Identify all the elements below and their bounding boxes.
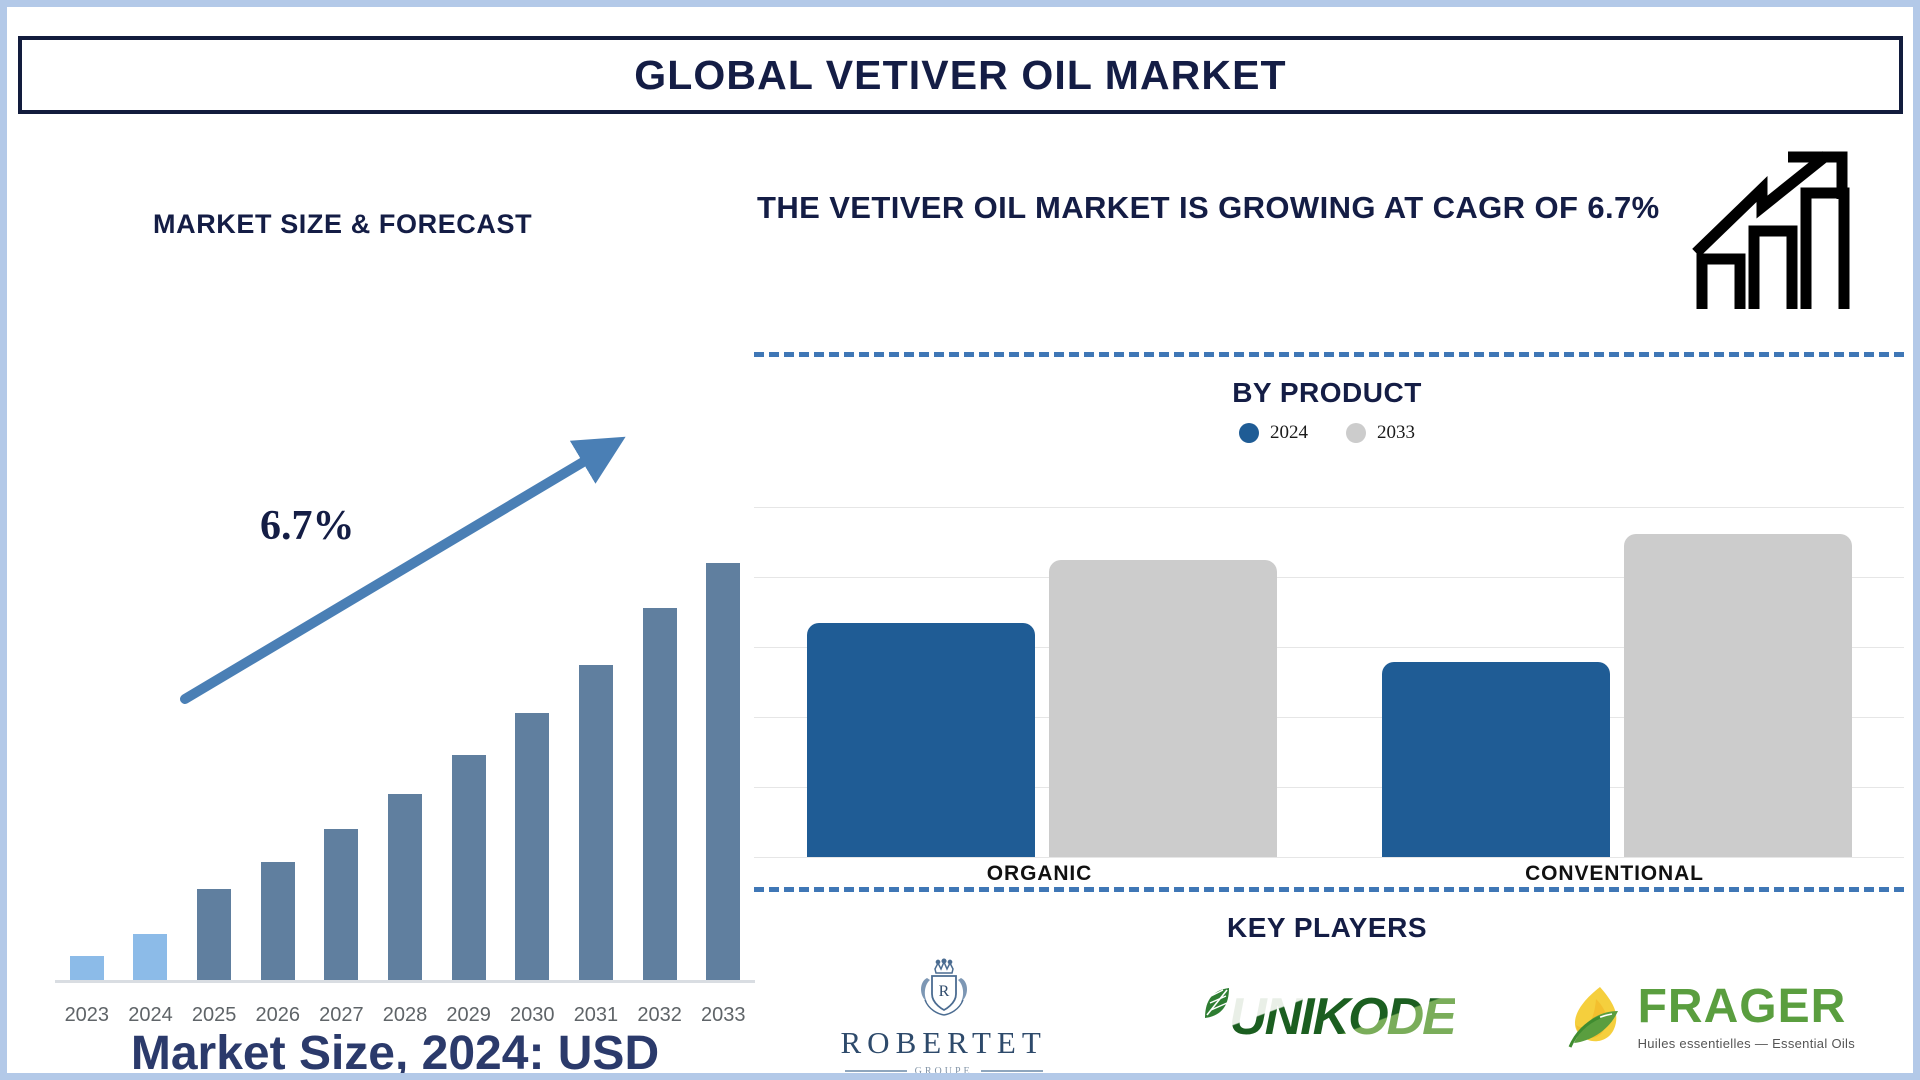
market-size-bar-column [119, 530, 183, 980]
market-size-x-label: 2028 [373, 1004, 437, 1027]
market-size-bar [324, 829, 358, 980]
legend-item-2024[interactable]: 2024 [1239, 422, 1308, 444]
page-title: GLOBAL VETIVER OIL MARKET [634, 52, 1286, 99]
frager-wrap: FRAGER Huiles essentielles — Essential O… [1566, 981, 1855, 1053]
market-size-bar-column [564, 530, 628, 980]
legend-label: 2033 [1377, 422, 1415, 444]
by-product-title: BY PRODUCT [752, 377, 1902, 409]
by-product-bar-group [807, 560, 1277, 857]
by-product-chart [754, 457, 1904, 857]
divider-top [754, 352, 1904, 357]
infographic-page: GLOBAL VETIVER OIL MARKET MARKET SIZE & … [0, 0, 1920, 1080]
frager-tagline: Huiles essentielles — Essential Oils [1638, 1036, 1855, 1051]
key-players-title: KEY PLAYERS [752, 912, 1902, 944]
market-size-bar [133, 934, 167, 980]
legend-label: 2024 [1270, 422, 1308, 444]
title-banner: GLOBAL VETIVER OIL MARKET [18, 36, 1903, 114]
legend-swatch-icon [1346, 423, 1366, 443]
right-panel: THE VETIVER OIL MARKET IS GROWING AT CAG… [752, 147, 1912, 1067]
leaf-icon [1199, 984, 1233, 1024]
market-size-value-line1: Market Size, 2024: USD [35, 1027, 755, 1080]
bar-chart-growth-icon [1692, 149, 1862, 314]
market-size-bars [55, 530, 755, 980]
rule-left [845, 1070, 907, 1072]
gridline [754, 857, 1904, 858]
market-size-x-label: 2023 [55, 1004, 119, 1027]
market-size-heading: MARKET SIZE & FORECAST [153, 209, 532, 240]
robertet-wordmark: ROBERTET [841, 1025, 1047, 1061]
by-product-bar-2024 [807, 623, 1035, 857]
market-size-bar-column [246, 530, 310, 980]
gridline [754, 507, 1904, 508]
frager-wordmark: FRAGER [1638, 983, 1855, 1031]
legend-item-2033[interactable]: 2033 [1346, 422, 1415, 444]
market-size-x-label: 2025 [182, 1004, 246, 1027]
market-size-x-label: 2024 [119, 1004, 183, 1027]
by-product-bar-2033 [1049, 560, 1277, 857]
market-size-x-label: 2029 [437, 1004, 501, 1027]
by-product-bar-2024 [1382, 662, 1610, 857]
by-product-category-label: ORGANIC [805, 862, 1275, 886]
divider-bottom [754, 887, 1904, 892]
market-size-axis-line [55, 980, 755, 983]
by-product-category-label: CONVENTIONAL [1380, 862, 1850, 886]
crest-crown-icon: R [905, 958, 983, 1020]
market-size-x-labels: 2023202420252026202720282029203020312032… [55, 1004, 755, 1027]
market-size-bar [515, 713, 549, 980]
growth-headline: THE VETIVER OIL MARKET IS GROWING AT CAG… [757, 187, 1697, 230]
market-size-x-label: 2031 [564, 1004, 628, 1027]
market-size-bar-column [373, 530, 437, 980]
logo-frager: FRAGER Huiles essentielles — Essential O… [1545, 952, 1875, 1080]
market-size-panel: MARKET SIZE & FORECAST 6.7% 202320242025… [25, 147, 765, 1067]
market-size-bar-column [628, 530, 692, 980]
robertet-subtitle: GROUPE [915, 1066, 973, 1077]
by-product-bar-2033 [1624, 534, 1852, 857]
market-size-bar-column [437, 530, 501, 980]
logo-robertet: R ROBERTET GROUPE [779, 952, 1109, 1080]
market-size-bar [643, 608, 677, 980]
market-size-bar-chart: 2023202420252026202720282029203020312032… [55, 527, 755, 997]
market-size-bar [70, 956, 104, 980]
by-product-bar-group [1382, 534, 1852, 857]
market-size-bar-column [310, 530, 374, 980]
market-size-x-label: 2033 [691, 1004, 755, 1027]
market-size-bar-column [55, 530, 119, 980]
market-size-bar [579, 665, 613, 980]
market-size-bar-column [691, 530, 755, 980]
rule-right [981, 1070, 1043, 1072]
unikode-wrap: UNIKODE [1199, 984, 1455, 1050]
market-size-value: Market Size, 2024: USD 61.41 Million [35, 1027, 755, 1080]
market-size-x-label: 2027 [310, 1004, 374, 1027]
market-size-bar [706, 563, 740, 980]
robertet-subtitle-row: GROUPE [845, 1066, 1043, 1077]
market-size-bar-column [500, 530, 564, 980]
by-product-bars [754, 527, 1904, 857]
market-size-bar [388, 794, 422, 980]
legend-swatch-icon [1239, 423, 1259, 443]
svg-text:R: R [938, 983, 949, 1000]
market-size-x-label: 2030 [500, 1004, 564, 1027]
by-product-category-labels: ORGANICCONVENTIONAL [752, 862, 1902, 886]
market-size-x-label: 2026 [246, 1004, 310, 1027]
by-product-legend: 20242033 [752, 422, 1902, 444]
unikode-wordmark: UNIKODE [1229, 991, 1455, 1043]
logo-unikode: UNIKODE [1162, 952, 1492, 1080]
market-size-bar-column [182, 530, 246, 980]
leaf-drop-icon [1566, 981, 1628, 1053]
key-players-logos: R ROBERTET GROUPE UNIKODE [752, 952, 1902, 1080]
market-size-bar [261, 862, 295, 980]
market-size-x-label: 2032 [628, 1004, 692, 1027]
market-size-bar [452, 755, 486, 980]
market-size-bar [197, 889, 231, 980]
